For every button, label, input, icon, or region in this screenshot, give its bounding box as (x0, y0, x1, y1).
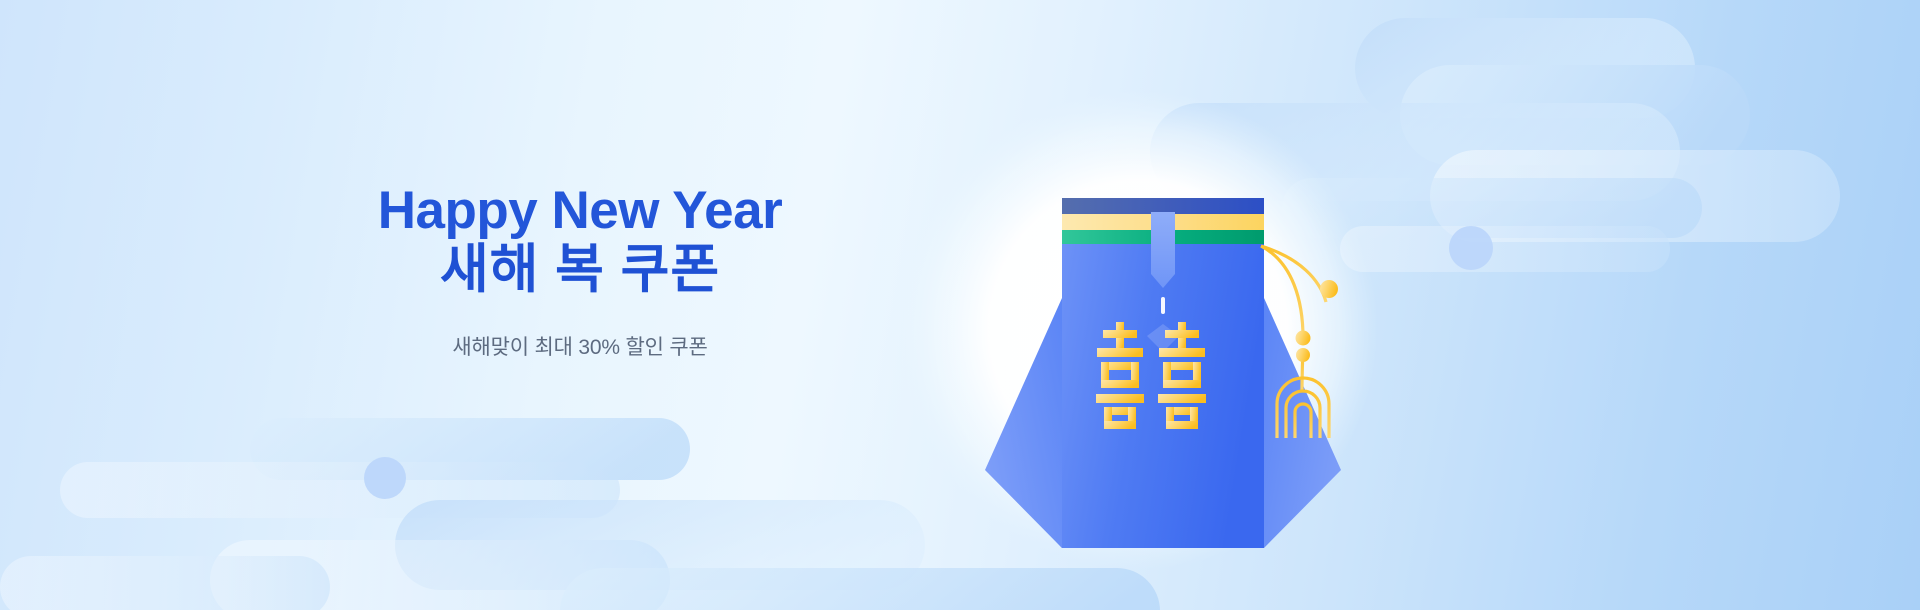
new-year-coupon-banner: Happy New Year 새해 복 쿠폰 새해맞이 최대 30% 할인 쿠폰 (0, 0, 1920, 610)
tassel-bead-lower (1296, 348, 1310, 362)
tassel-bead-top (1320, 280, 1338, 298)
pouch-flap-left-outer (985, 298, 1062, 548)
pouch-stripe-navy (1062, 198, 1264, 214)
ribbon-tick (1161, 297, 1165, 314)
tassel-bead-middle (1296, 331, 1311, 346)
banner-text-block: Happy New Year 새해 복 쿠폰 새해맞이 최대 30% 할인 쿠폰 (320, 183, 840, 361)
lucky-pouch-illustration (0, 0, 1920, 610)
page-title-english: Happy New Year (320, 183, 840, 238)
tassel-string-outer (1261, 246, 1326, 302)
banner-subtitle: 새해맞이 최대 30% 할인 쿠폰 (320, 331, 840, 361)
pouch-ribbon-tab (1151, 212, 1175, 288)
page-title-korean: 새해 복 쿠폰 (320, 238, 840, 303)
